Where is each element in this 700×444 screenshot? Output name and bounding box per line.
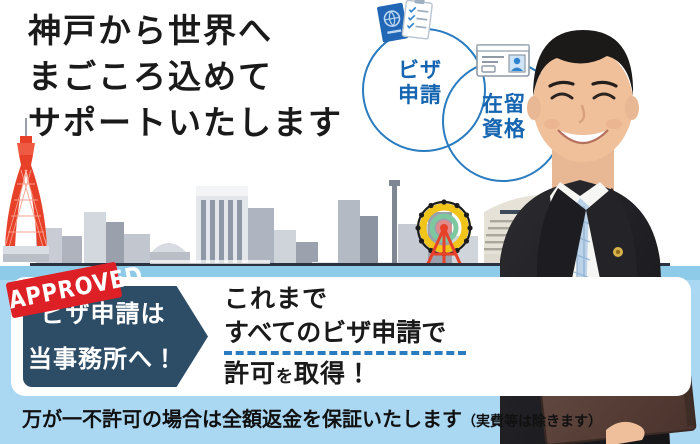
message-line-3-main: 許可 (224, 360, 276, 388)
guarantee-note: （実費等は除きます） (462, 413, 602, 429)
message-line-3-tail: 取得！ (294, 360, 372, 388)
track-record-message: これまで すべてのビザ申請で 許可を取得！ (224, 282, 494, 394)
message-line-1: これまで (224, 282, 494, 316)
refund-guarantee-text: 万が一不許可の場合は全額返金を保証いたします（実費等は除きます） (22, 404, 662, 436)
message-line-3: 許可を取得！ (224, 357, 494, 394)
dashed-underline (224, 351, 466, 355)
guarantee-main: 万が一不許可の場合は全額返金を保証いたします (22, 409, 462, 431)
page-title: 神戸から世界へ まごころ込めて サポートいたします (28, 8, 408, 146)
visa-application-label: ビザ 申請 (370, 58, 470, 108)
headline-line-3: サポートいたします (28, 100, 408, 146)
passport-icon (374, 0, 438, 48)
message-line-2: すべてのビザ申請で (224, 316, 494, 350)
headline-line-2: まごころ込めて (28, 54, 408, 100)
visa-service-banner: 神戸から世界へ まごころ込めて サポートいたします ビザ 申請 在留 資格 (0, 0, 700, 444)
callout-line-2: 当事務所へ！ (23, 337, 183, 382)
message-line-3-particle: を (276, 367, 294, 386)
headline-line-1: 神戸から世界へ (28, 8, 408, 54)
